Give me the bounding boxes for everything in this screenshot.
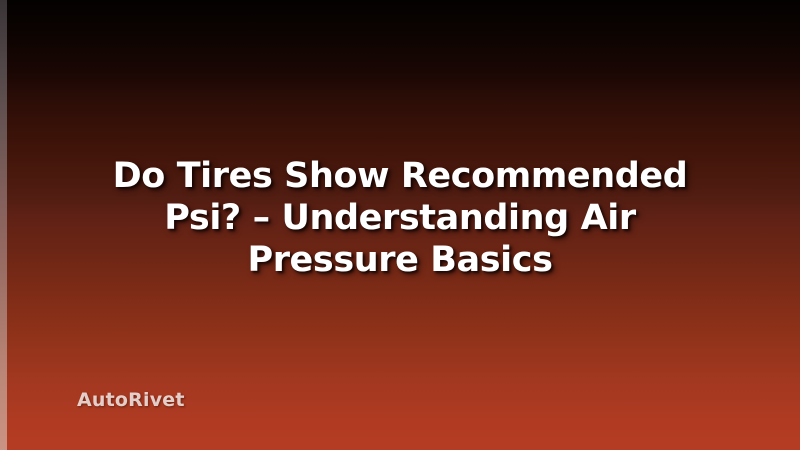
title-line-3: Pressure Basics	[60, 239, 740, 281]
brand-name: AutoRivet	[77, 389, 185, 411]
social-share-card: Do Tires Show Recommended Psi? – Underst…	[0, 0, 800, 450]
title-line-1: Do Tires Show Recommended	[60, 155, 740, 197]
left-edge-strip	[0, 0, 7, 450]
title-line-2: Psi? – Understanding Air	[60, 197, 740, 239]
page-title: Do Tires Show Recommended Psi? – Underst…	[60, 155, 740, 281]
